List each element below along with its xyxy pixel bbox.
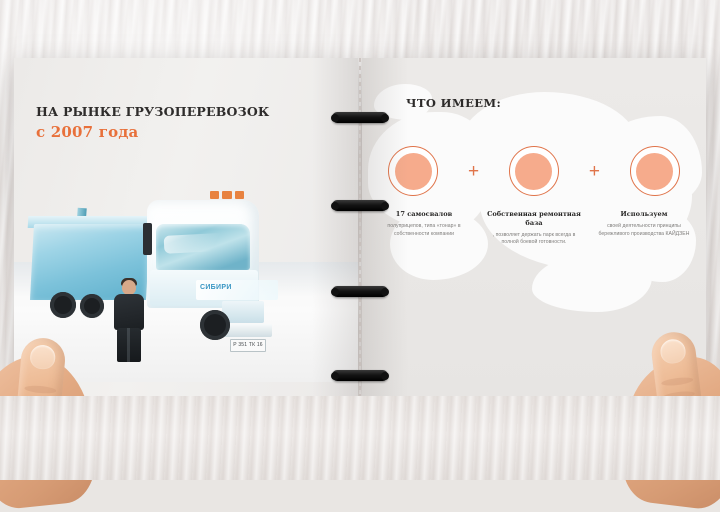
right-thumbnail — [659, 338, 687, 365]
roof-light — [222, 191, 231, 199]
cab-roof-marker-lights — [210, 191, 244, 199]
circle-fill-icon — [636, 153, 673, 190]
column-title: Используем — [596, 210, 692, 219]
left-thumbnail — [29, 344, 56, 370]
thumb-crease — [661, 376, 694, 387]
infographic-text-columns: 17 самосвалов полуприцепов, типа «тонар»… — [376, 210, 692, 280]
column-body: , позволяет держать парк всегда в полной… — [486, 232, 582, 247]
booklet: СИБИРИ Р 351 ТК 16 НА РЫНКЕ ГРУЗОПЕРЕВОЗ… — [14, 58, 706, 396]
wood-table-foreground — [0, 396, 720, 480]
thumb-crease — [24, 385, 56, 395]
truck-logo-text: СИБИРИ — [200, 284, 232, 291]
infographic-column-1: 17 самосвалов полуприцепов, типа «тонар»… — [376, 210, 472, 280]
right-page-heading: ЧТО ИМЕЕМ: — [406, 96, 501, 110]
infographic-circle-3 — [630, 146, 680, 196]
infographic-circle-row: + + — [388, 140, 680, 202]
column-body: своей деятельности принципы бережливого … — [596, 223, 692, 238]
driver-head — [122, 280, 136, 295]
plus-separator-2: + — [589, 162, 600, 181]
plus-separator-1: + — [468, 162, 479, 181]
cab-wheel — [200, 310, 230, 340]
roof-light — [235, 191, 244, 199]
infographic-column-3: Используем своей деятельности принципы б… — [596, 210, 692, 280]
circle-fill-icon — [515, 153, 552, 190]
infographic-circle-1 — [388, 146, 438, 196]
driver-torso — [114, 294, 144, 330]
infographic-circle-2 — [509, 146, 559, 196]
cab-windshield — [156, 224, 250, 270]
driver-legs — [117, 328, 141, 362]
left-page-title: НА РЫНКЕ ГРУЗОПЕРЕВОЗОК — [36, 104, 270, 119]
circle-fill-icon — [395, 153, 432, 190]
cab-side-mirror — [143, 223, 152, 255]
column-body: полуприцепов, типа «тонар» в собственнос… — [376, 223, 472, 238]
roof-light — [210, 191, 219, 199]
infographic-column-2: Собственная ремонтная база , позволяет д… — [486, 210, 582, 280]
column-title: Собственная ремонтная база — [486, 210, 582, 228]
license-plate: Р 351 ТК 16 — [230, 339, 266, 352]
truck-logo-band: СИБИРИ — [196, 280, 278, 300]
left-page-year: с 2007 года — [36, 123, 138, 141]
column-title: 17 самосвалов — [376, 210, 472, 219]
